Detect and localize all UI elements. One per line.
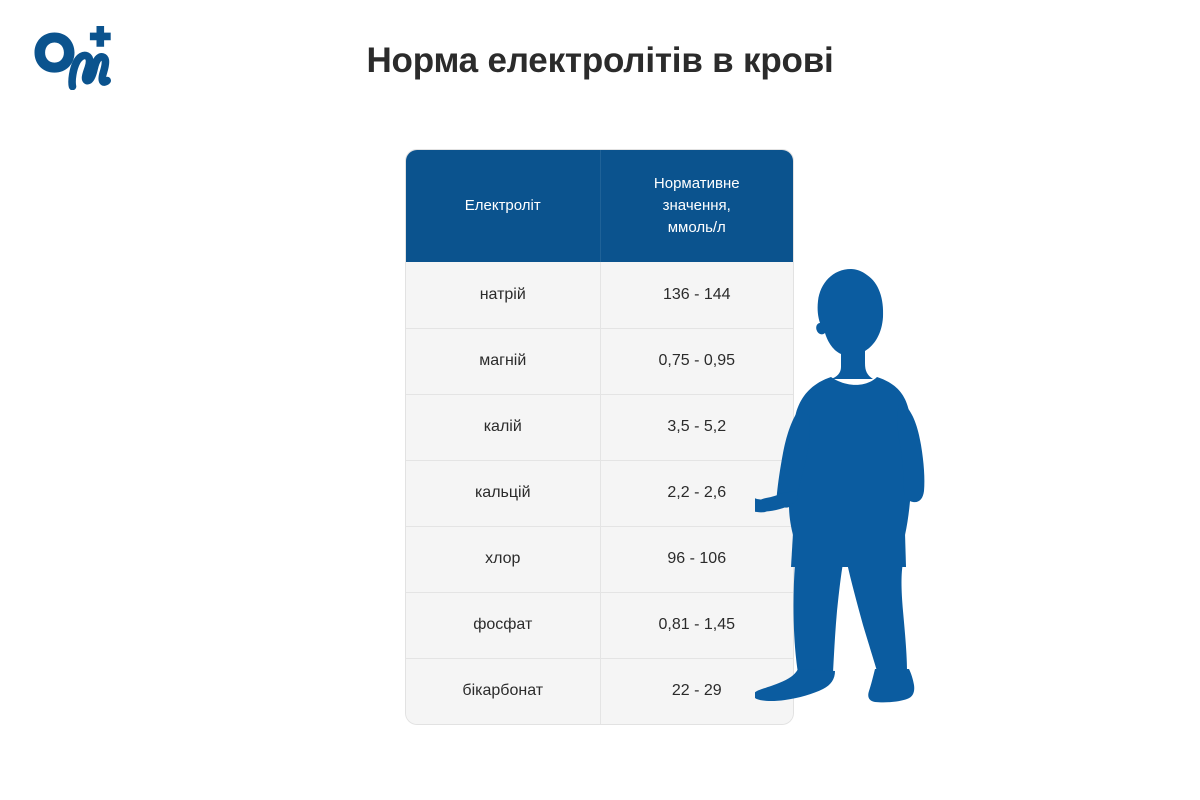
table-row: калій 3,5 - 5,2: [406, 394, 793, 460]
cell-electrolyte-name: кальцій: [406, 460, 600, 526]
doctor-silhouette-icon: [755, 255, 970, 705]
table-row: кальцій 2,2 - 2,6: [406, 460, 793, 526]
table-header-row: Електроліт Нормативне значення, ммоль/л: [406, 150, 793, 262]
electrolyte-norms-table: Електроліт Нормативне значення, ммоль/л …: [406, 150, 793, 724]
cell-electrolyte-name: хлор: [406, 526, 600, 592]
column-header-line-3: ммоль/л: [668, 219, 726, 236]
column-header-normative-value: Нормативне значення, ммоль/л: [600, 150, 793, 262]
column-header-line-2: значення,: [663, 197, 731, 214]
table-row: натрій 136 - 144: [406, 262, 793, 328]
table-row: фосфат 0,81 - 1,45: [406, 592, 793, 658]
table-body: натрій 136 - 144 магній 0,75 - 0,95 калі…: [406, 262, 793, 724]
table-row: бікарбонат 22 - 29: [406, 658, 793, 724]
cell-electrolyte-name: натрій: [406, 262, 600, 328]
doctor-silhouette: [755, 255, 970, 705]
cell-electrolyte-name: фосфат: [406, 592, 600, 658]
table-header: Електроліт Нормативне значення, ммоль/л: [406, 150, 793, 262]
cell-electrolyte-name: калій: [406, 394, 600, 460]
page-title: Норма електролітів в крові: [150, 40, 1050, 82]
on-plus-logo-icon: [30, 24, 120, 90]
table-row: хлор 96 - 106: [406, 526, 793, 592]
cell-electrolyte-name: бікарбонат: [406, 658, 600, 724]
column-header-electrolyte: Електроліт: [406, 150, 600, 262]
column-header-line-1: Нормативне: [654, 175, 740, 192]
cell-electrolyte-name: магній: [406, 328, 600, 394]
brand-logo: [30, 24, 120, 90]
table-row: магній 0,75 - 0,95: [406, 328, 793, 394]
